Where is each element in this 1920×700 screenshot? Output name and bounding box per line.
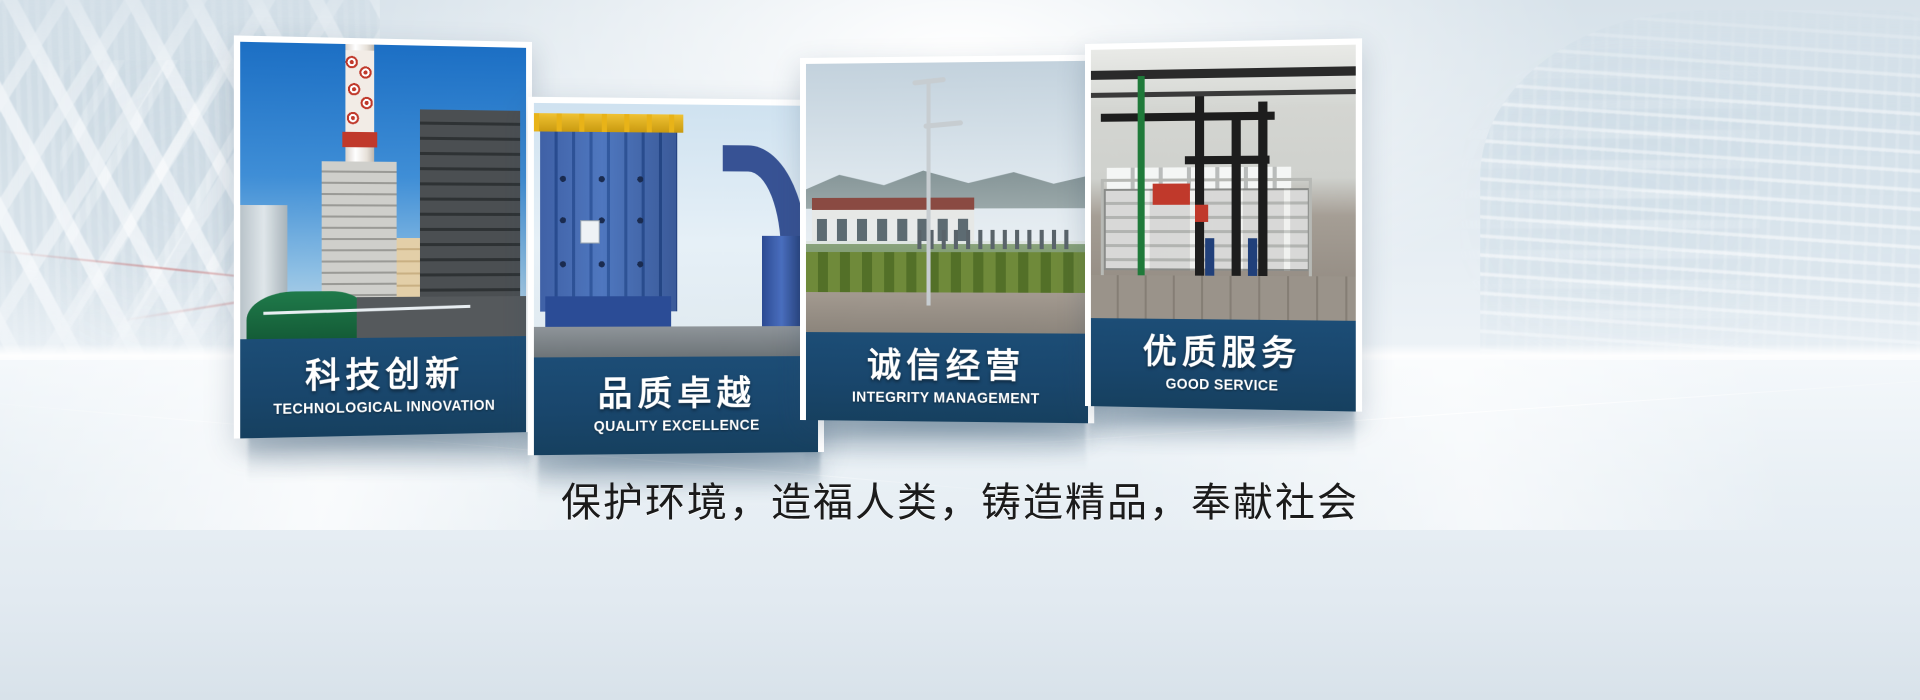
panel-integrity-management[interactable]: 诚信经营 INTEGRITY MANAGEMENT [800,55,1094,424]
panel-technological-innovation[interactable]: 科技创新 TECHNOLOGICAL INNOVATION [234,35,532,438]
panel-caption-technological-innovation: 科技创新 TECHNOLOGICAL INNOVATION [240,336,526,438]
panel-title-en: QUALITY EXCELLENCE [594,418,760,435]
panel-title-cn: 品质卓越 [598,376,756,411]
panel-title-en: GOOD SERVICE [1165,376,1278,393]
panel-photo-integrity-management [806,61,1088,334]
panel-caption-integrity-management: 诚信经营 INTEGRITY MANAGEMENT [806,332,1088,423]
panel-photo-technological-innovation [240,42,526,340]
panel-quality-excellence[interactable]: 品质卓越 QUALITY EXCELLENCE [528,97,824,456]
panel-title-cn: 诚信经营 [867,348,1025,384]
panel-title-en: INTEGRITY MANAGEMENT [852,389,1040,406]
panel-caption-quality-excellence: 品质卓越 QUALITY EXCELLENCE [534,356,818,455]
panel-photo-quality-excellence [534,103,818,358]
panel-title-cn: 科技创新 [305,357,464,394]
panel-title-en: TECHNOLOGICAL INNOVATION [273,398,495,417]
banner-tagline: 保护环境，造福人类，铸造精品，奉献社会 [0,470,1920,528]
panel-good-service[interactable]: 优质服务 GOOD SERVICE [1085,38,1362,411]
panel-title-cn: 优质服务 [1143,335,1302,372]
company-banner: 科技创新 TECHNOLOGICAL INNOVATION [0,0,1920,700]
panel-caption-good-service: 优质服务 GOOD SERVICE [1091,318,1356,411]
panel-photo-good-service [1091,45,1356,321]
